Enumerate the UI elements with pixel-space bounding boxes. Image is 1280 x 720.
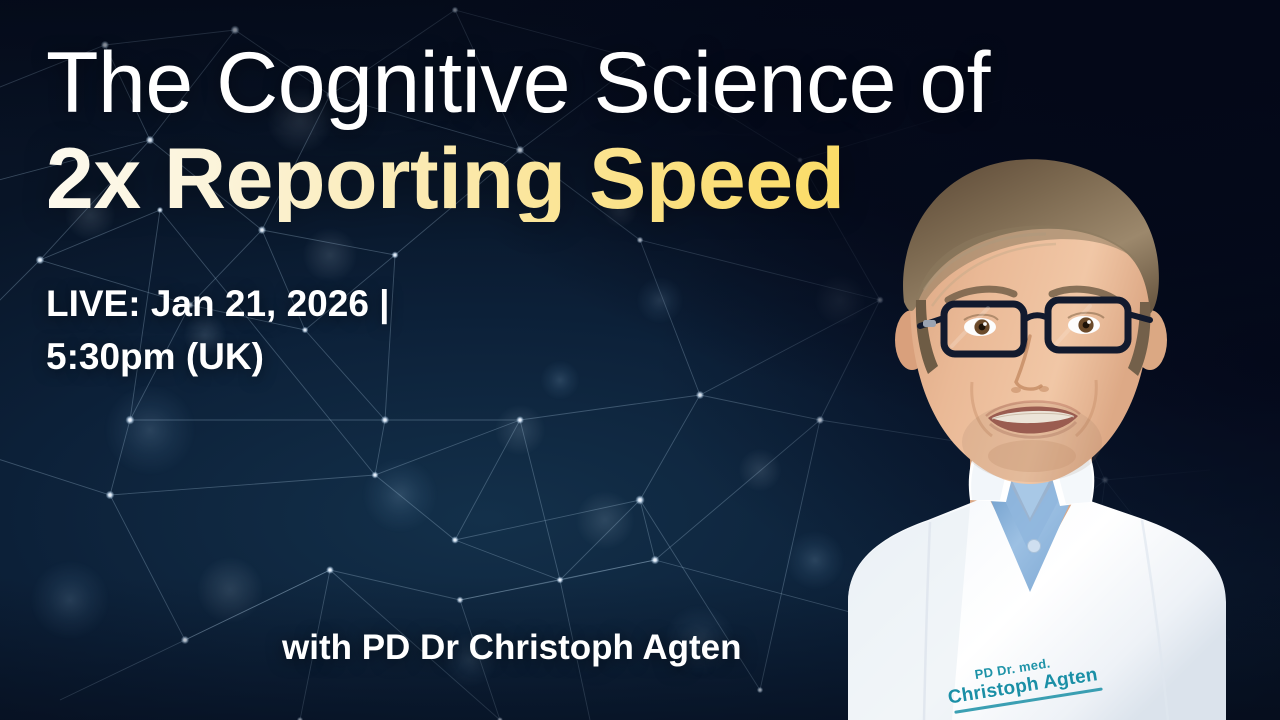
event-datetime: LIVE: Jan 21, 2026 | 5:30pm (UK) [46,278,466,383]
webinar-promo-slide: PD Dr. med. Christoph Agten The Cognitiv… [0,0,1280,720]
headline-line-2: 2x Reporting Speed [46,136,1066,222]
headline-line-1: The Cognitive Science of [46,40,1066,126]
speaker-credit: with PD Dr Christoph Agten [282,628,742,668]
headline-block: The Cognitive Science of 2x Reporting Sp… [46,40,1066,383]
